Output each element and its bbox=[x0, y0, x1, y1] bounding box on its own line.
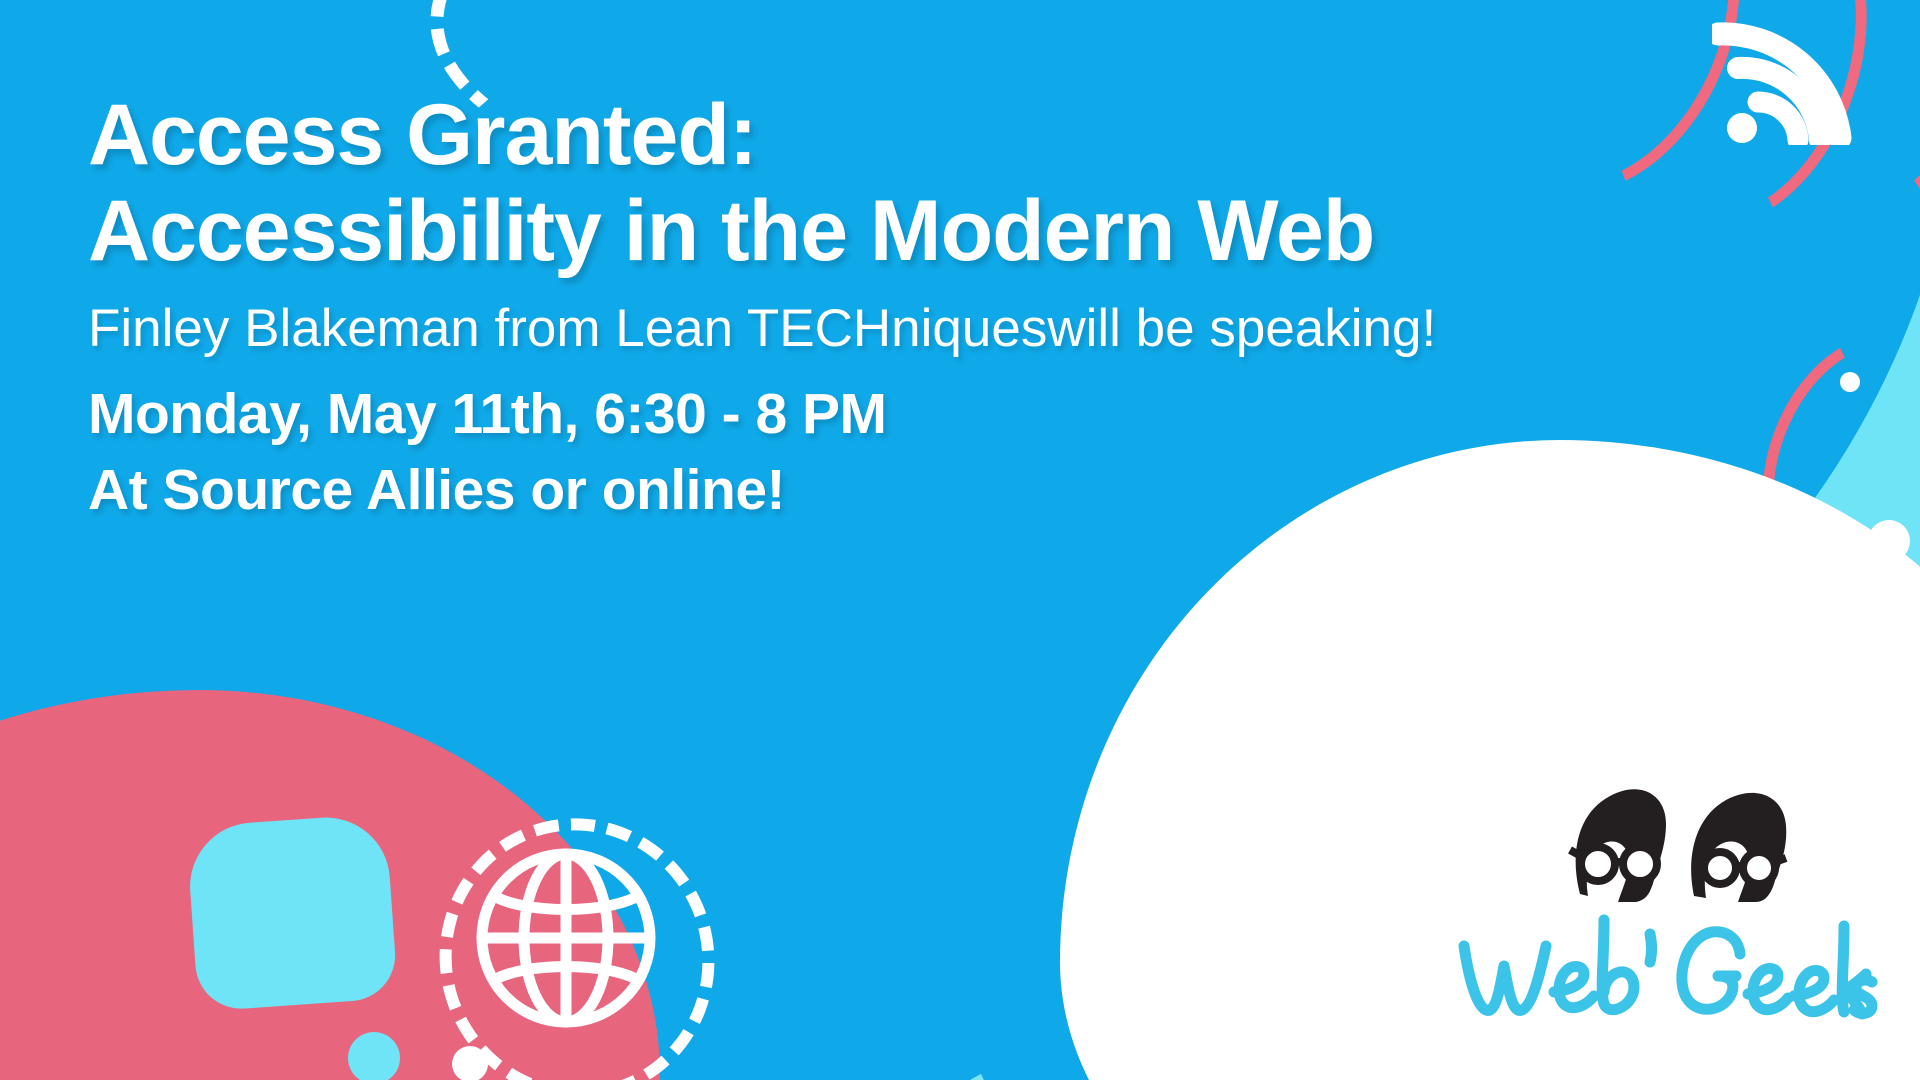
poster-text-block: Access Granted: Accessibility in the Mod… bbox=[88, 92, 1648, 521]
white-dot-1 bbox=[1840, 372, 1860, 392]
event-datetime: Monday, May 11th, 6:30 - 8 PM bbox=[88, 385, 1648, 445]
speaker-line: Finley Blakeman from Lean TECHniqueswill… bbox=[88, 302, 1648, 355]
web-geeks-logo: Web Geeks bbox=[1454, 784, 1884, 1052]
event-location: At Source Allies or online! bbox=[88, 461, 1648, 521]
page-title: Access Granted: Accessibility in the Mod… bbox=[88, 92, 1648, 274]
event-promo-poster: Access Granted: Accessibility in the Mod… bbox=[0, 0, 1920, 1080]
title-line-1: Access Granted: bbox=[88, 87, 757, 183]
title-line-2: Accessibility in the Modern Web bbox=[88, 188, 1648, 274]
wifi-icon bbox=[1712, 10, 1852, 145]
logo-alt-text: Web Geeks bbox=[1454, 784, 1455, 785]
logo-wordmark bbox=[1454, 900, 1884, 1050]
cyan-pill-shape bbox=[186, 813, 398, 1012]
globe-icon bbox=[468, 840, 664, 1036]
geek-heads-icon bbox=[1562, 784, 1798, 902]
cyan-dot bbox=[348, 1032, 400, 1080]
cursor-arrow-icon bbox=[1222, 640, 1308, 744]
